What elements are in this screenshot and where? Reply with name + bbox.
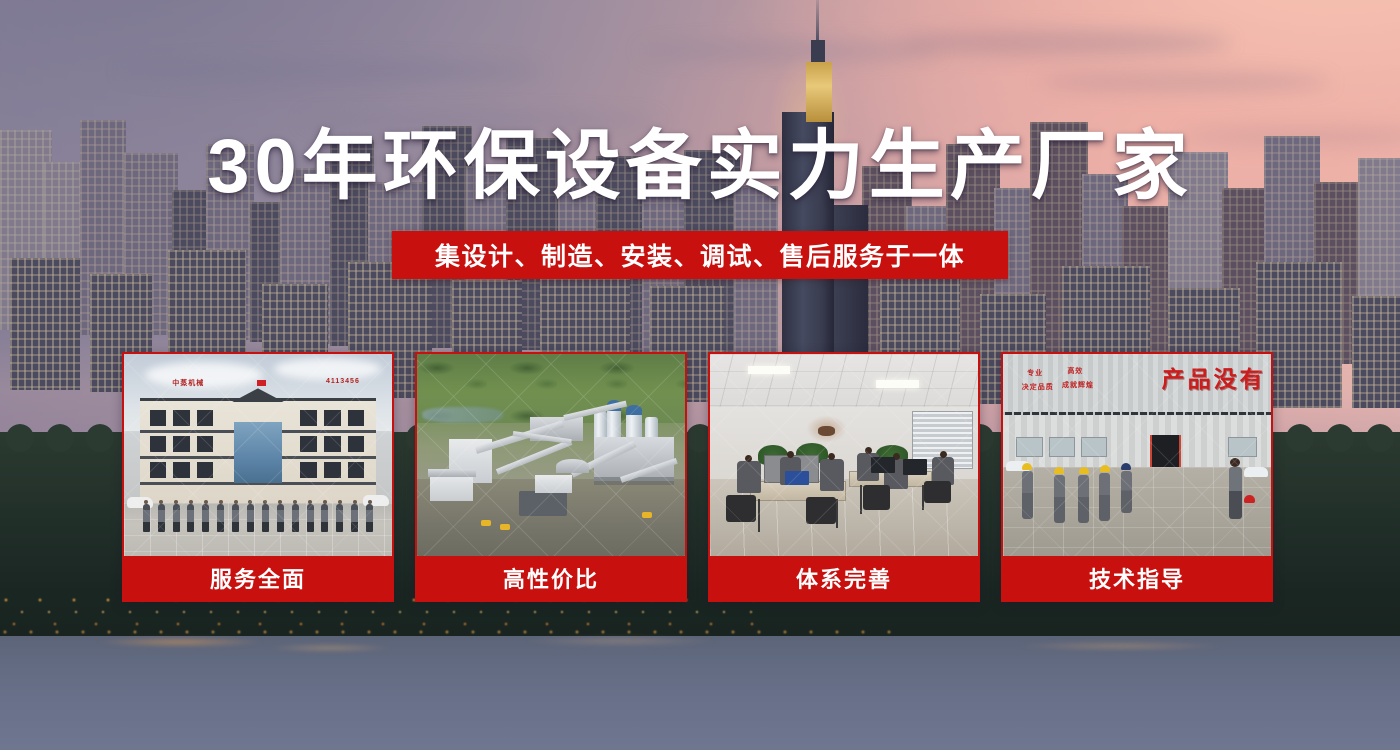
card-photo-plant <box>417 354 685 556</box>
staff-person <box>307 504 314 532</box>
card-caption-text: 高性价比 <box>503 562 599 594</box>
building-window <box>173 462 190 478</box>
photo-scene-building: 中蒸机械 4113456 <box>124 354 392 556</box>
subtitle-banner: 集设计、制造、安装、调试、售后服务于一体 <box>392 231 1008 279</box>
river-strip <box>422 407 502 423</box>
feature-card-value[interactable]: 高性价比 <box>415 352 687 602</box>
shed-dark <box>519 491 567 515</box>
staff-person <box>173 504 180 532</box>
staff-person <box>247 504 254 532</box>
factory-slogan-1: 专业 <box>1027 368 1043 378</box>
photo-scene-office <box>710 354 978 556</box>
supervisor <box>1229 467 1242 519</box>
monitor-2 <box>903 459 927 475</box>
staff-person <box>143 504 150 532</box>
feature-card-service[interactable]: 中蒸机械 4113456 <box>122 352 394 602</box>
staff-person <box>336 504 343 532</box>
excavator-3 <box>642 512 652 518</box>
staff-person <box>158 504 165 532</box>
card-photo-workers: 产品没有 专业 高效 决定品质 成就辉煌 <box>1003 354 1271 556</box>
desk-leg <box>860 485 862 513</box>
staff-person <box>351 504 358 532</box>
company-phone-text: 4113456 <box>326 378 360 385</box>
building-window <box>173 410 190 426</box>
excavator-1 <box>481 520 491 526</box>
building-window <box>300 410 317 426</box>
photo-scene-workers: 产品没有 专业 高效 决定品质 成就辉煌 <box>1003 354 1271 556</box>
company-sign-text: 中蒸机械 <box>172 378 204 388</box>
building-window <box>348 410 365 426</box>
staff-person <box>262 504 269 532</box>
feature-card-list: 中蒸机械 4113456 <box>122 352 1278 602</box>
building-window <box>197 410 214 426</box>
desk-leg <box>758 499 760 531</box>
excavator-2 <box>500 524 510 530</box>
card-photo-office <box>710 354 978 556</box>
building-window <box>324 462 341 478</box>
card-caption-bar: 高性价比 <box>417 556 685 600</box>
desk-leg <box>836 499 838 527</box>
card-caption-text: 技术指导 <box>1089 562 1185 594</box>
subtitle-text: 集设计、制造、安装、调试、售后服务于一体 <box>435 237 965 273</box>
photo-scene-plant <box>417 354 685 556</box>
building-window <box>324 410 341 426</box>
card-caption-text: 体系完善 <box>796 562 892 594</box>
factory-headline-text: 产品没有 <box>1162 360 1266 394</box>
building-glass-atrium <box>234 422 281 483</box>
building-mid-14 <box>1352 296 1400 408</box>
building-window <box>348 462 365 478</box>
worker-2 <box>1054 475 1065 523</box>
flag-icon <box>257 380 266 386</box>
staff-person <box>217 504 224 532</box>
factory-window-1 <box>1016 437 1042 457</box>
chair-1 <box>726 495 755 521</box>
factory-window-2 <box>1049 437 1075 457</box>
ceiling-light-1 <box>748 366 791 374</box>
factory-window-4 <box>1228 437 1257 457</box>
yard-car-right <box>1244 467 1268 477</box>
building-window <box>197 436 214 452</box>
building-window <box>300 436 317 452</box>
building-mid-1 <box>10 258 80 390</box>
building-window <box>324 436 341 452</box>
factory-door <box>1150 435 1181 467</box>
office-ceiling <box>710 354 978 407</box>
factory-window-3 <box>1081 437 1107 457</box>
office-person-1 <box>737 461 761 493</box>
arc-shed <box>556 459 588 473</box>
card-caption-bar: 服务全面 <box>124 556 392 600</box>
factory-slogan-4: 成就辉煌 <box>1062 380 1094 390</box>
chair-2 <box>806 497 835 523</box>
staff-person <box>187 504 194 532</box>
staff-person <box>277 504 284 532</box>
building-window <box>197 462 214 478</box>
water-reflections <box>0 636 1400 676</box>
processing-block-2 <box>430 473 473 501</box>
promo-banner: 30年环保设备实力生产厂家 集设计、制造、安装、调试、售后服务于一体 <box>0 0 1400 750</box>
worker-3 <box>1078 475 1089 523</box>
worker-1 <box>1022 471 1033 519</box>
card-caption-bar: 技术指导 <box>1003 556 1271 600</box>
staff-person <box>366 504 373 532</box>
worker-4 <box>1099 473 1110 521</box>
monitor-1 <box>871 457 895 473</box>
factory-slogan-3: 决定品质 <box>1022 382 1054 392</box>
card-caption-bar: 体系完善 <box>710 556 978 600</box>
staff-row <box>143 495 373 531</box>
staff-person <box>321 504 328 532</box>
laptop <box>785 471 809 485</box>
wall-decoration <box>806 415 846 443</box>
feature-card-system[interactable]: 体系完善 <box>708 352 980 602</box>
card-caption-text: 服务全面 <box>210 562 306 594</box>
ceiling-light-2 <box>876 380 919 388</box>
building-window <box>300 462 317 478</box>
building-window <box>150 436 167 452</box>
staff-person <box>292 504 299 532</box>
factory-slogan-2: 高效 <box>1067 366 1083 376</box>
page-title: 30年环保设备实力生产厂家 <box>0 129 1400 205</box>
card-photo-building: 中蒸机械 4113456 <box>124 354 392 556</box>
silo-cap-2 <box>626 405 642 415</box>
staff-person <box>202 504 209 532</box>
tower-crown-lit <box>806 62 832 122</box>
office-building <box>140 398 376 506</box>
staff-person <box>232 504 239 532</box>
worker-5 <box>1121 471 1132 513</box>
feature-card-guidance[interactable]: 产品没有 专业 高效 决定品质 成就辉煌 <box>1001 352 1273 602</box>
building-window <box>150 462 167 478</box>
white-shed <box>535 475 573 493</box>
chair-4 <box>924 481 951 503</box>
office-roof <box>428 469 476 477</box>
office-person-3 <box>820 459 844 491</box>
red-helmet-icon <box>1244 495 1255 503</box>
building-window <box>348 436 365 452</box>
building-window <box>150 410 167 426</box>
chair-3 <box>863 485 890 509</box>
building-window <box>173 436 190 452</box>
tower-spire <box>816 0 819 44</box>
